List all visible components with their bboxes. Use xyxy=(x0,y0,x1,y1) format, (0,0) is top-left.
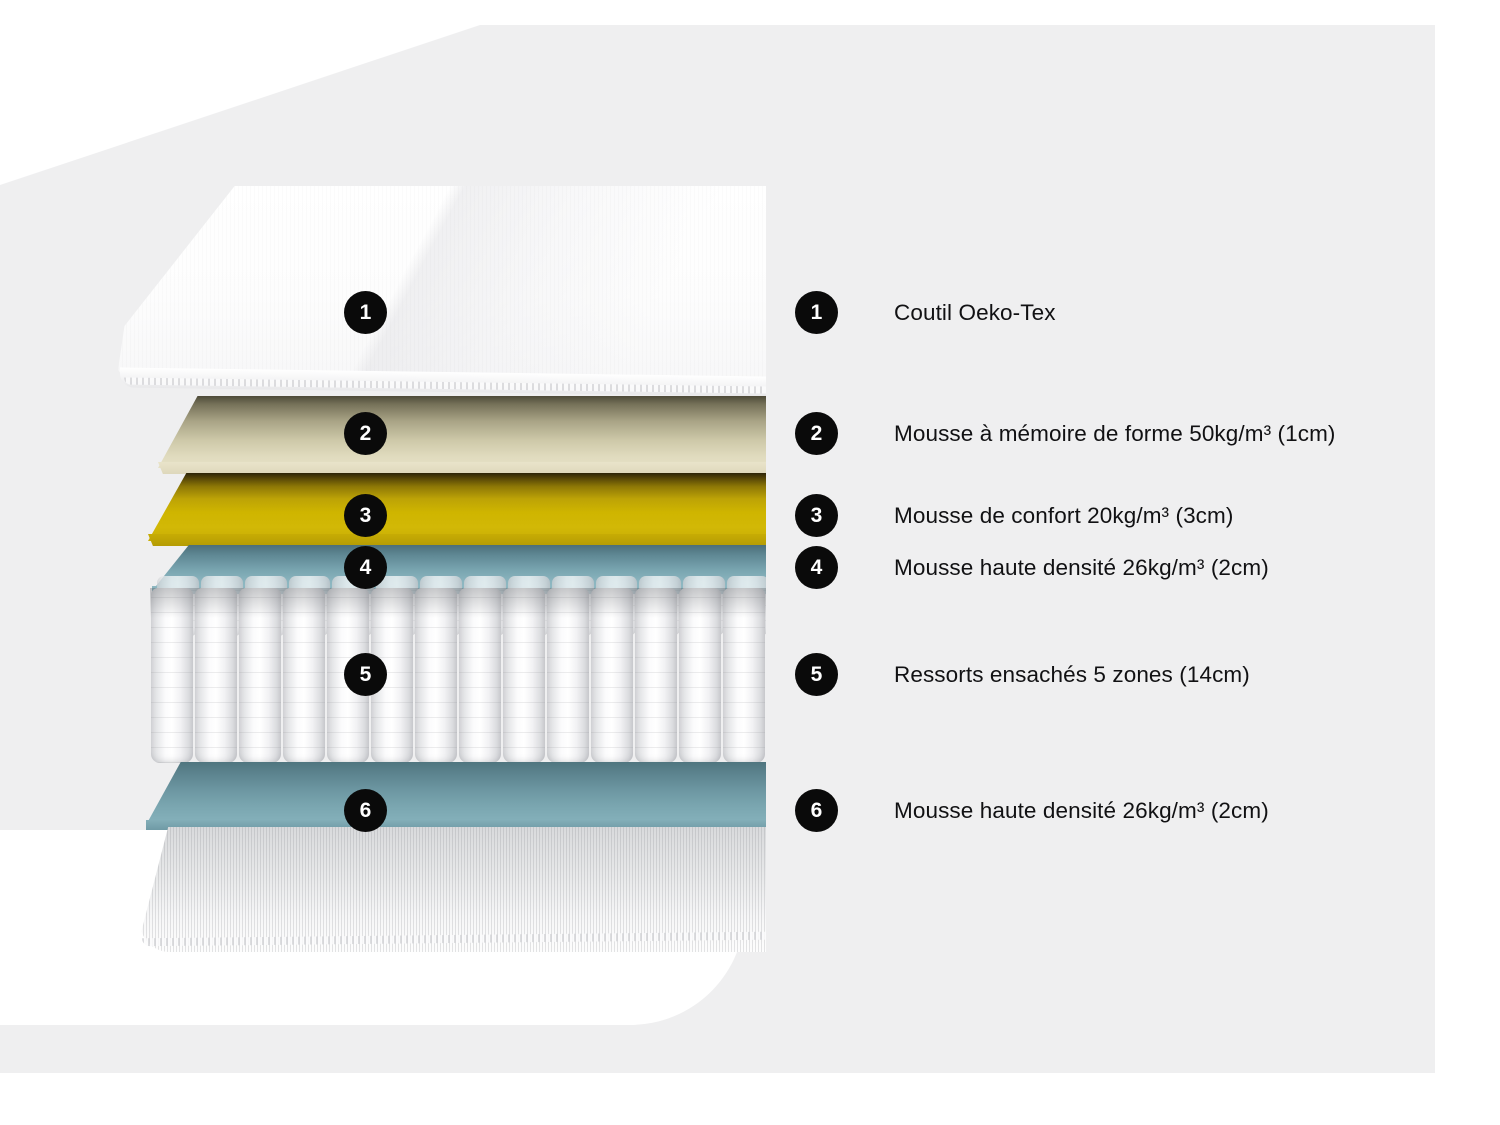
legend-label-3: Mousse de confort 20kg/m³ (3cm) xyxy=(894,503,1233,529)
layer-2-memory-foam-front-face xyxy=(158,462,766,474)
pocket-spring xyxy=(195,588,237,763)
legend-label-5: Ressorts ensachés 5 zones (14cm) xyxy=(894,662,1250,688)
layer-badge-4: 4 xyxy=(344,546,387,589)
legend-label-4: Mousse haute densité 26kg/m³ (2cm) xyxy=(894,555,1269,581)
pocket-springs-front-row xyxy=(150,588,766,763)
legend-badge-5: 5 xyxy=(795,653,838,696)
legend-item-1[interactable]: 1 Coutil Oeko-Tex xyxy=(795,291,1056,334)
pocket-spring xyxy=(415,588,457,763)
pocket-spring xyxy=(459,588,501,763)
legend-label-1: Coutil Oeko-Tex xyxy=(894,300,1056,326)
layer-badge-5: 5 xyxy=(344,653,387,696)
layer-5-pocket-springs xyxy=(150,588,766,763)
legend-label-2: Mousse à mémoire de forme 50kg/m³ (1cm) xyxy=(894,421,1336,447)
legend-badge-1: 1 xyxy=(795,291,838,334)
legend-badge-6: 6 xyxy=(795,789,838,832)
legend-badge-4: 4 xyxy=(795,546,838,589)
legend-item-5[interactable]: 5 Ressorts ensachés 5 zones (14cm) xyxy=(795,653,1250,696)
layer-3-comfort-foam-front-face xyxy=(148,534,766,546)
layer-badge-3: 3 xyxy=(344,494,387,537)
legend-label-6: Mousse haute densité 26kg/m³ (2cm) xyxy=(894,798,1269,824)
pocket-spring xyxy=(503,588,545,763)
pocket-spring xyxy=(635,588,677,763)
pocket-spring xyxy=(591,588,633,763)
layer-badge-6: 6 xyxy=(344,789,387,832)
layer-1-coutil-sheen xyxy=(118,186,766,386)
pocket-spring xyxy=(151,588,193,763)
legend-item-3[interactable]: 3 Mousse de confort 20kg/m³ (3cm) xyxy=(795,494,1233,537)
mattress-layers-infographic: 1 2 3 4 5 6 1 Coutil Oeko-Tex 2 Mousse à… xyxy=(0,0,1500,1125)
legend-badge-3: 3 xyxy=(795,494,838,537)
legend-item-4[interactable]: 4 Mousse haute densité 26kg/m³ (2cm) xyxy=(795,546,1269,589)
layer-badge-1: 1 xyxy=(344,291,387,334)
layer-3-comfort-foam xyxy=(148,473,766,541)
legend-badge-2: 2 xyxy=(795,412,838,455)
pocket-spring xyxy=(723,588,765,763)
mattress-illustration: 1 2 3 4 5 6 xyxy=(0,0,766,1125)
pocket-spring xyxy=(547,588,589,763)
layer-2-memory-foam xyxy=(158,396,766,468)
layer-badge-2: 2 xyxy=(344,412,387,455)
legend-item-6[interactable]: 6 Mousse haute densité 26kg/m³ (2cm) xyxy=(795,789,1269,832)
pocket-spring xyxy=(679,588,721,763)
pocket-spring xyxy=(283,588,325,763)
layer-6-high-density-foam xyxy=(146,762,766,825)
pocket-spring xyxy=(239,588,281,763)
legend-item-2[interactable]: 2 Mousse à mémoire de forme 50kg/m³ (1cm… xyxy=(795,412,1336,455)
